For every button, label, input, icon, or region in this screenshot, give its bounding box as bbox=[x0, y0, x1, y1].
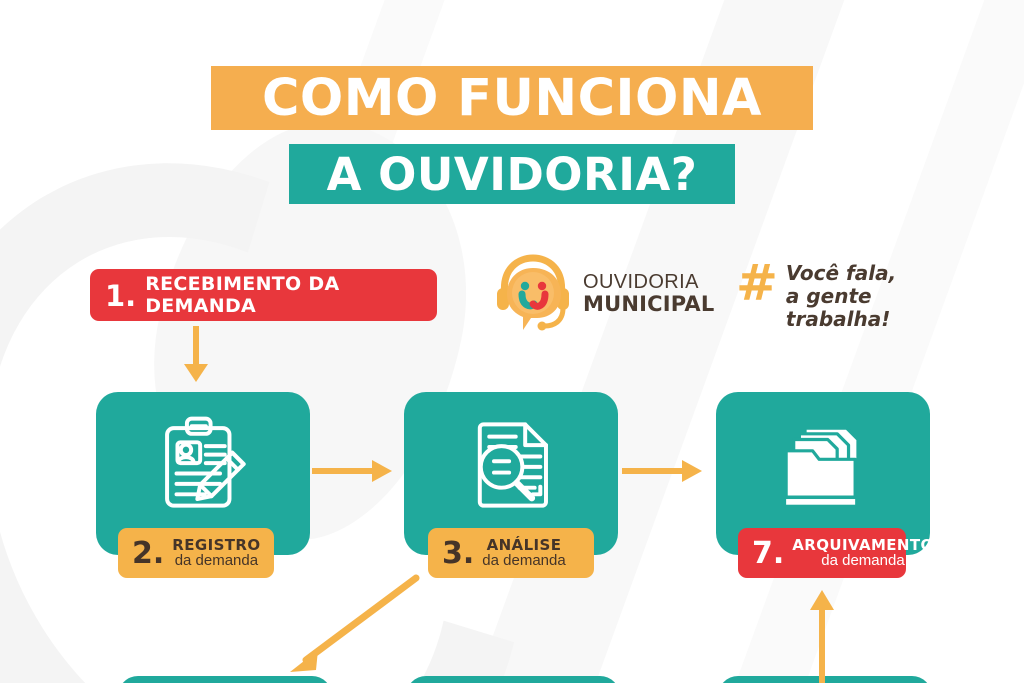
arrow-step3-to-step4 bbox=[276, 572, 426, 680]
step-1-banner[interactable]: 1. RECEBIMENTO DA DEMANDA bbox=[90, 269, 437, 321]
step-2-subtitle: da demanda bbox=[172, 553, 260, 570]
step-7-title: ARQUIVAMENTO bbox=[792, 537, 933, 554]
ouvidoria-headset-smiley-logo-icon bbox=[487, 252, 579, 334]
slogan: # Você fala, a gente trabalha! bbox=[736, 256, 936, 336]
arrow-step3-to-step7 bbox=[622, 456, 708, 486]
slogan-line-3: trabalha! bbox=[786, 308, 896, 331]
clipboard-pencil-icon bbox=[96, 400, 310, 530]
step-1-number: 1. bbox=[105, 282, 136, 311]
step-3-title: ANÁLISE bbox=[482, 537, 565, 554]
step-3-subtitle: da demanda bbox=[482, 553, 565, 570]
logo-line-1: OUVIDORIA bbox=[583, 272, 714, 293]
folder-documents-icon bbox=[716, 400, 930, 530]
step-2-number: 2. bbox=[132, 539, 164, 569]
title-line-1: COMO FUNCIONA bbox=[211, 66, 813, 130]
slogan-text: Você fala, a gente trabalha! bbox=[786, 256, 896, 331]
infographic-page: COMO FUNCIONA A OUVIDORIA? 1. RECEBIMENT… bbox=[0, 0, 1024, 683]
step-7-number: 7. bbox=[752, 539, 784, 569]
logo-line-2: MUNICIPAL bbox=[583, 293, 714, 315]
step-3-pill[interactable]: 3. ANÁLISE da demanda bbox=[428, 528, 594, 578]
step-2-pill[interactable]: 2. REGISTRO da demanda bbox=[118, 528, 274, 578]
step-1-label: RECEBIMENTO DA DEMANDA bbox=[145, 273, 437, 317]
hashtag-icon: # bbox=[736, 260, 778, 308]
step-card-next-2-partial[interactable] bbox=[406, 676, 620, 683]
step-2-title: REGISTRO bbox=[172, 537, 260, 554]
ouvidoria-logo: OUVIDORIA MUNICIPAL bbox=[487, 252, 699, 334]
step-7-subtitle: da demanda bbox=[792, 553, 933, 570]
arrow-step1-to-step2 bbox=[176, 326, 220, 388]
step-7-pill[interactable]: 7. ARQUIVAMENTO da demanda bbox=[738, 528, 906, 578]
logo-wordmark: OUVIDORIA MUNICIPAL bbox=[583, 272, 714, 315]
slogan-line-1: Você fala, bbox=[786, 262, 896, 285]
step-3-number: 3. bbox=[442, 539, 474, 569]
title-line-2: A OUVIDORIA? bbox=[289, 144, 735, 204]
document-magnifier-icon bbox=[404, 400, 618, 530]
arrow-step2-to-step3 bbox=[312, 456, 398, 486]
slogan-line-2: a gente bbox=[786, 285, 896, 308]
arrow-step6-to-step7 bbox=[802, 588, 846, 683]
